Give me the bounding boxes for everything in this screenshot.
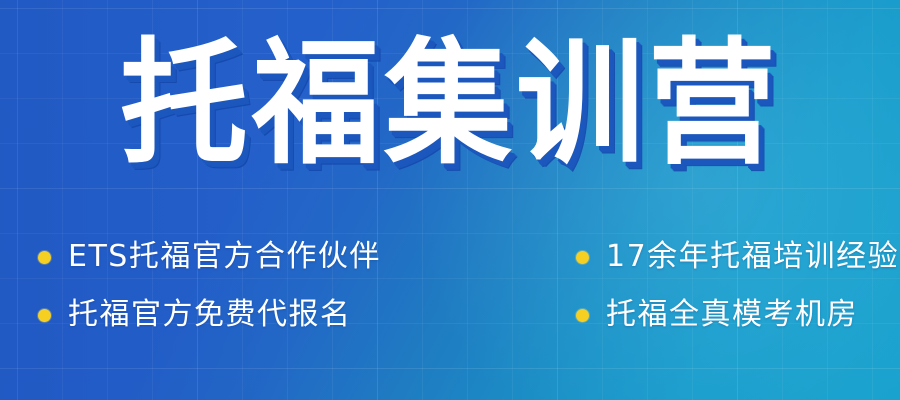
feature-label-2: 17余年托福培训经验 [606, 240, 899, 274]
feature-label-4: 托福全真模考机房 [606, 298, 858, 332]
feature-item-4: 托福全真模考机房 [450, 298, 900, 332]
feature-item-1: ETS托福官方合作伙伴 [0, 240, 450, 274]
toefl-bootcamp-banner: 托福集训营 ETS托福官方合作伙伴 17余年托福培训经验 托福官方免费代报名 托… [0, 0, 900, 400]
feature-item-2: 17余年托福培训经验 [450, 240, 900, 274]
bullet-dot-icon [38, 251, 51, 264]
feature-label-3: 托福官方免费代报名 [68, 298, 352, 332]
bullet-dot-icon [576, 309, 589, 322]
bullet-dot-icon [576, 251, 589, 264]
bullet-dot-icon [38, 309, 51, 322]
feature-item-3: 托福官方免费代报名 [0, 298, 450, 332]
feature-label-1: ETS托福官方合作伙伴 [68, 240, 381, 274]
feature-list: ETS托福官方合作伙伴 17余年托福培训经验 托福官方免费代报名 托福全真模考机… [0, 228, 900, 344]
banner-headline: 托福集训营 [0, 36, 900, 174]
